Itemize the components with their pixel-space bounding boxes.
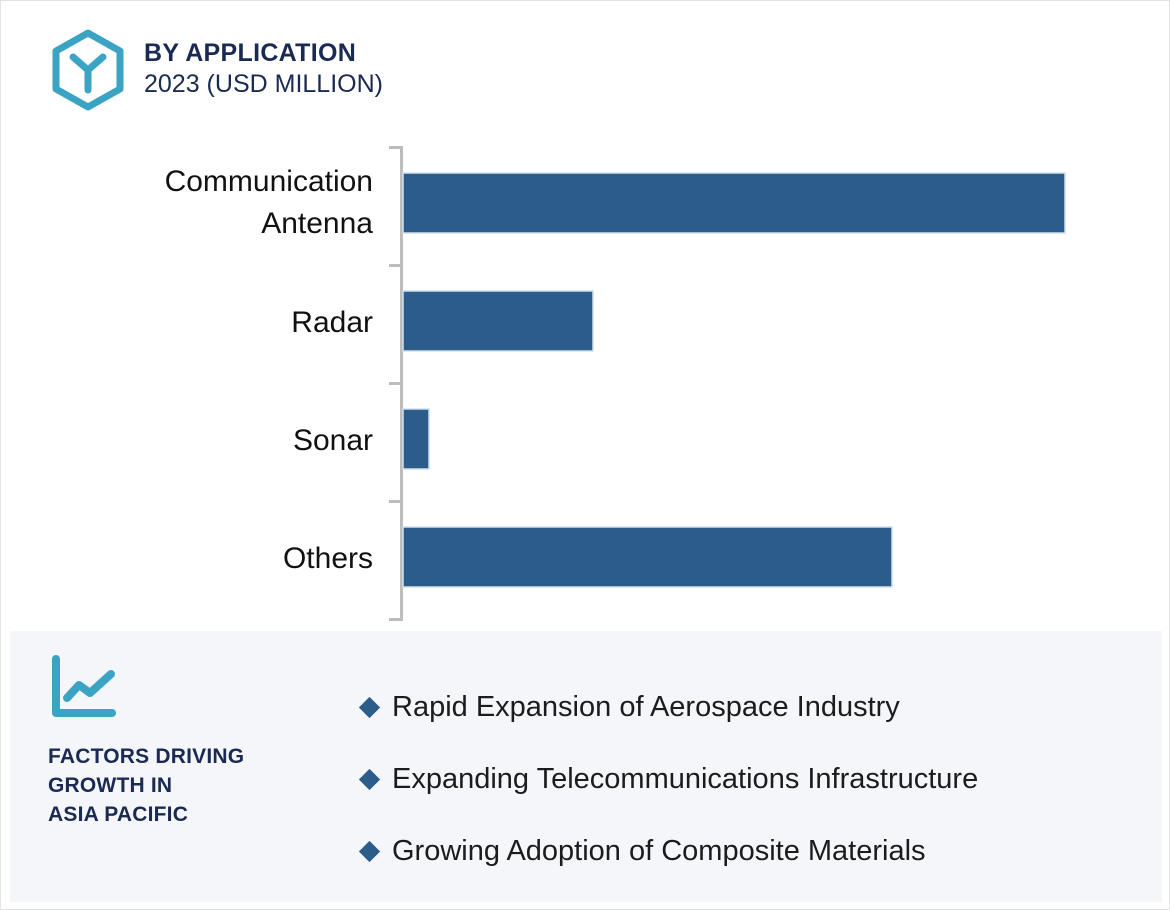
category-label-others: Others [283, 542, 373, 575]
category-label-communication-antenna-line2: Antenna [261, 207, 373, 240]
bar-communication-antenna [403, 173, 1065, 233]
list-item: Growing Adoption of Composite Materials [362, 815, 1142, 887]
growth-factors-panel: FACTORS DRIVING GROWTH IN ASIA PACIFIC R… [10, 631, 1162, 902]
panel-heading-line-3: ASIA PACIFIC [48, 801, 348, 830]
axis-ticks [389, 148, 401, 620]
diamond-bullet-icon [359, 696, 380, 717]
bar-sonar [403, 409, 429, 469]
chart-figure: BY APPLICATION 2023 (USD MILLION) [0, 0, 1170, 910]
category-label-radar: Radar [291, 306, 373, 339]
diamond-bullet-icon [359, 840, 380, 861]
page-title: BY APPLICATION [144, 39, 383, 68]
growth-factor-2: Expanding Telecommunications Infrastruct… [392, 765, 978, 794]
growth-factors-list: Rapid Expansion of Aerospace Industry Ex… [362, 671, 1142, 887]
bar-others [403, 527, 892, 587]
bar-chart-svg: Communication Antenna Radar Sonar Others [1, 131, 1170, 631]
category-label-sonar: Sonar [293, 424, 373, 457]
list-item: Expanding Telecommunications Infrastruct… [362, 743, 1142, 815]
growth-factor-3: Growing Adoption of Composite Materials [392, 837, 926, 866]
page-subtitle: 2023 (USD MILLION) [144, 68, 383, 102]
panel-heading-line-1: FACTORS DRIVING [48, 743, 348, 772]
hexagon-y-logo-icon [48, 29, 128, 111]
trend-line-chart-icon [48, 653, 120, 721]
panel-left-column: FACTORS DRIVING GROWTH IN ASIA PACIFIC [48, 653, 348, 830]
category-label-communication-antenna-line1: Communication [165, 165, 373, 198]
diamond-bullet-icon [359, 768, 380, 789]
header-text-block: BY APPLICATION 2023 (USD MILLION) [144, 29, 383, 102]
panel-heading: FACTORS DRIVING GROWTH IN ASIA PACIFIC [48, 743, 348, 830]
panel-heading-line-2: GROWTH IN [48, 772, 348, 801]
chart-header: BY APPLICATION 2023 (USD MILLION) [48, 29, 383, 111]
growth-factor-1: Rapid Expansion of Aerospace Industry [392, 693, 900, 722]
list-item: Rapid Expansion of Aerospace Industry [362, 671, 1142, 743]
bar-radar [403, 291, 593, 351]
bar-series [403, 173, 1065, 587]
bar-chart: Communication Antenna Radar Sonar Others [1, 131, 1170, 631]
